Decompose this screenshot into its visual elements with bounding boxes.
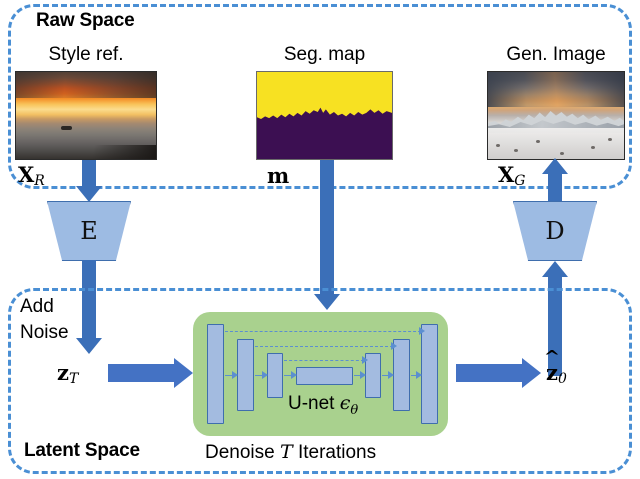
unet-skip-connection-1-head: [419, 327, 425, 335]
arrow-decoder-to-genimage-shaft: [548, 172, 562, 202]
denoise-caption: Denoise T Iterations: [205, 441, 376, 464]
arrow-decoder-to-genimage-head: [542, 158, 568, 174]
latent-space-title: Latent Space: [24, 440, 140, 462]
denoise-symbol: T: [280, 441, 293, 463]
denoise-prefix: Denoise: [205, 442, 280, 463]
arrow-zt-to-unet-shaft: [108, 364, 174, 382]
z0-symbol-label: z0: [546, 360, 567, 387]
zt-symbol-label: zT: [57, 360, 78, 387]
encoder-block: E: [47, 201, 131, 261]
unet-bar-enc-1: [207, 324, 224, 424]
denoise-suffix: Iterations: [293, 442, 376, 463]
unet-flow-6-head: [416, 371, 422, 379]
unet-caption-symbol: ϵθ: [340, 392, 358, 414]
arrow-unet-to-z0-head: [522, 358, 541, 388]
seg-map-caption: Seg. map: [256, 44, 393, 66]
unet-panel: U-net ϵθ: [193, 312, 448, 436]
arrow-segmap-to-unet-shaft: [320, 160, 334, 296]
unet-flow-3-head: [291, 371, 297, 379]
raw-space-title: Raw Space: [36, 10, 135, 32]
unet-bar-dec-1: [421, 324, 438, 424]
add-noise-annotation: Add Noise: [20, 294, 69, 346]
gen-image-caption: Gen. Image: [487, 44, 625, 66]
unet-skip-connection-3-head: [362, 356, 368, 364]
style-ref-symbol-label: XR: [18, 162, 45, 189]
unet-caption-symbol-sub: θ: [350, 403, 358, 418]
arrow-unet-to-z0-shaft: [456, 364, 522, 382]
diagram-canvas: Raw Space Style ref. XR Seg. map m Gen. …: [0, 0, 640, 479]
unet-skip-connection-3: [284, 360, 364, 361]
unet-bar-enc-2: [237, 339, 254, 411]
encoder-label: E: [80, 217, 98, 245]
arrow-styleref-to-encoder-shaft: [82, 160, 96, 188]
unet-caption: U-net ϵθ: [288, 392, 358, 418]
arrow-z0-to-decoder-head: [542, 261, 568, 277]
seg-map-image: [256, 71, 393, 160]
gen-image: [487, 71, 625, 160]
unet-caption-prefix: U-net: [288, 393, 340, 414]
unet-bar-bottleneck: [296, 367, 353, 385]
unet-flow-5-head: [388, 371, 394, 379]
arrow-styleref-to-encoder-head: [76, 186, 102, 202]
gen-image-symbol-label: XG: [498, 162, 525, 189]
style-ref-image: [15, 71, 157, 160]
arrow-zt-to-unet-head: [174, 358, 193, 388]
unet-skip-connection-2-head: [391, 342, 397, 350]
unet-flow-4-head: [360, 371, 366, 379]
unet-flow-2-head: [262, 371, 268, 379]
decoder-label: D: [545, 217, 564, 245]
style-ref-caption: Style ref.: [15, 44, 157, 66]
boat-speck: [61, 126, 72, 130]
unet-skip-connection-2: [255, 346, 393, 347]
seg-map-symbol-label: m: [267, 163, 289, 188]
unet-bar-enc-3: [267, 353, 283, 398]
unet-flow-1-head: [232, 371, 238, 379]
decoder-block: D: [513, 201, 597, 261]
unet-skip-connection-1: [225, 331, 421, 332]
